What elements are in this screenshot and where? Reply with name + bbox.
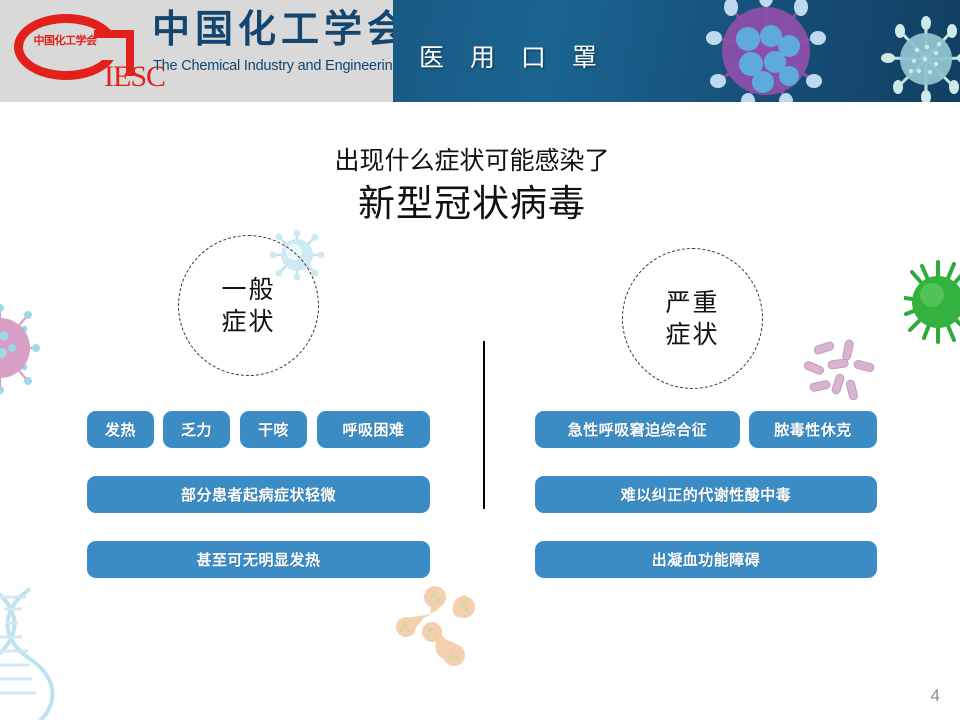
pill-severe-coagulation-dysfunction[interactable]: 出凝血功能障碍 [535,541,877,578]
emblem-inner-text: 中国化工学会 [26,34,104,47]
header-banner: 医 用 口 罩 [393,0,960,102]
circle-severe-symptoms: 严重 症状 [622,248,763,389]
virus-teal-icon [881,16,960,102]
pill-general-dyspnea[interactable]: 呼吸困难 [317,411,430,448]
pill-severe-ards[interactable]: 急性呼吸窘迫综合征 [535,411,740,448]
bacteria-pink-icon [800,338,878,400]
slide-header: 中国化工学会 IESC 中国化工学会 The Chemical Industry… [0,0,960,102]
pill-severe-metabolic-acidosis[interactable]: 难以纠正的代谢性酸中毒 [535,476,877,513]
pill-general-no-obvious-fever[interactable]: 甚至可无明显发热 [87,541,430,578]
logo-panel: 中国化工学会 IESC 中国化工学会 The Chemical Industry… [0,0,393,102]
org-name-en: The Chemical Industry and Engineering So… [153,58,393,74]
dna-helix-icon [0,585,66,720]
slide-canvas: 中国化工学会 IESC 中国化工学会 The Chemical Industry… [0,0,960,720]
circle-general-label-line2: 症状 [221,306,275,338]
circle-severe-label-line2: 症状 [665,319,719,351]
pill-general-dry-cough[interactable]: 干咳 [240,411,307,448]
virus-green-icon [904,258,960,346]
pill-general-mild-onset[interactable]: 部分患者起病症状轻微 [87,476,430,513]
column-divider [483,341,485,509]
pill-general-fatigue[interactable]: 乏力 [163,411,230,448]
germ-beige-icon [388,585,492,669]
page-title-line1: 出现什么症状可能感染了 [0,146,960,176]
page-title-line2: 新型冠状病毒 [0,182,960,226]
pill-severe-septic-shock[interactable]: 脓毒性休克 [749,411,877,448]
circle-severe-label-line1: 严重 [665,287,719,319]
circle-general-symptoms: 一般 症状 [178,235,319,376]
org-name-cn: 中国化工学会 [152,6,393,52]
page-number: 4 [931,686,940,706]
virus-pink-icon [0,296,46,400]
circle-general-label-line1: 一般 [221,274,275,306]
virus-purple-icon [701,0,831,102]
banner-title: 医 用 口 罩 [419,38,606,74]
pill-general-fever[interactable]: 发热 [87,411,154,448]
